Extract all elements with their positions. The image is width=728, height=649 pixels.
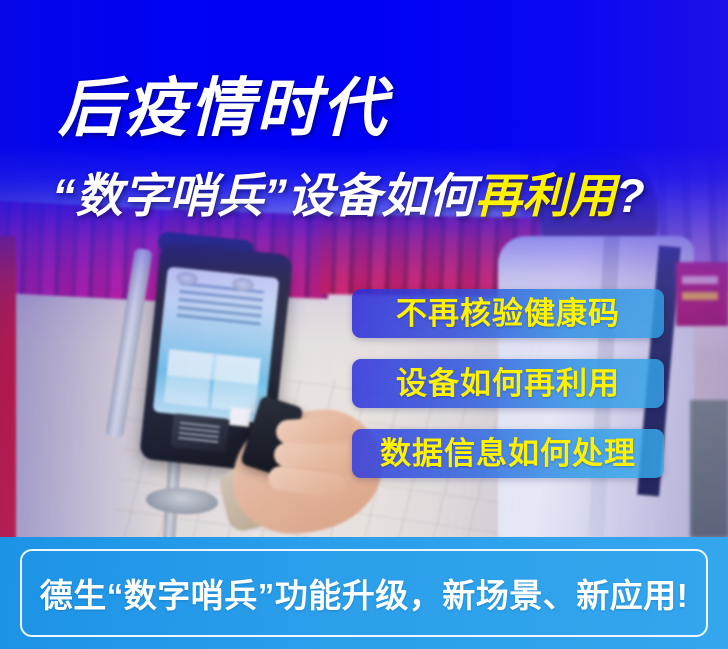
topic-pill-device-reuse[interactable]: 设备如何再利用 bbox=[352, 359, 664, 408]
promo-poster: 后疫情时代 “数字哨兵”设备如何再利用? 不再核验健康码 设备如何再利用 数据信… bbox=[0, 0, 728, 649]
topic-pill-health-code[interactable]: 不再核验健康码 bbox=[352, 289, 664, 338]
topic-pill-list: 不再核验健康码 设备如何再利用 数据信息如何处理 bbox=[352, 289, 664, 499]
topic-pill-data-handling[interactable]: 数据信息如何处理 bbox=[352, 429, 664, 478]
bottom-banner-text: 德生“数字哨兵”功能升级，新场景、新应用! bbox=[40, 569, 689, 617]
topic-pill-label: 数据信息如何处理 bbox=[380, 438, 636, 469]
topic-pill-label: 设备如何再利用 bbox=[396, 368, 620, 399]
topic-pill-label: 不再核验健康码 bbox=[396, 298, 620, 329]
bottom-banner: 德生“数字哨兵”功能升级，新场景、新应用! bbox=[0, 537, 728, 649]
bottom-banner-frame: 德生“数字哨兵”功能升级，新场景、新应用! bbox=[20, 549, 708, 637]
